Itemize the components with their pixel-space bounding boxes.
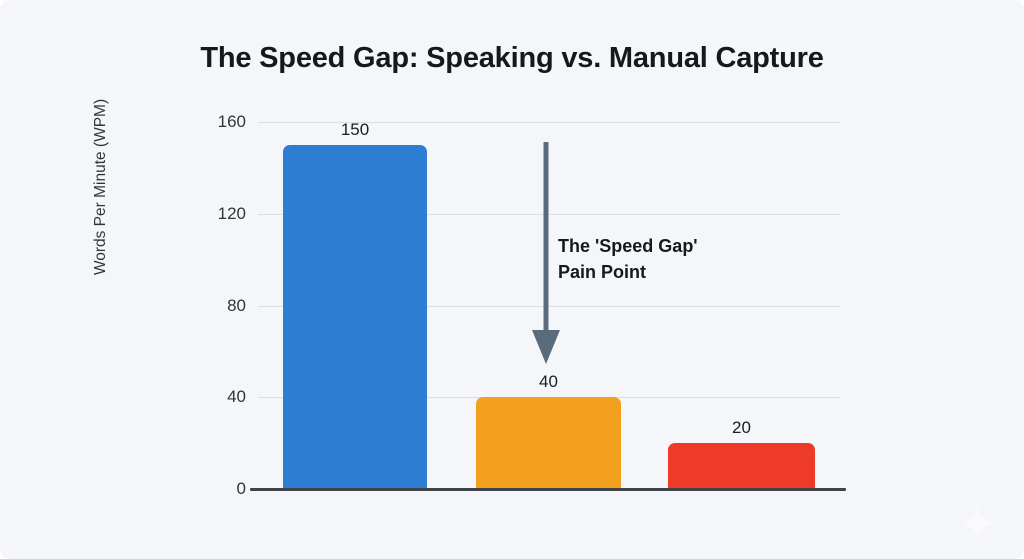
- speed-gap-annotation: The 'Speed Gap' Pain Point: [558, 233, 698, 285]
- y-tick-label-80: 80: [194, 296, 246, 316]
- y-tick-label-120: 120: [194, 204, 246, 224]
- y-tick-label-0: 0: [194, 479, 246, 499]
- speed-gap-annotation-line1: The 'Speed Gap': [558, 233, 698, 259]
- speed-gap-annotation-line2: Pain Point: [558, 259, 698, 285]
- y-tick-label-160: 160: [194, 112, 246, 132]
- bar-value-typing-ipad-screen: 40: [539, 372, 558, 392]
- bar-speaking-speed[interactable]: [283, 145, 427, 489]
- sparkle-icon: [955, 500, 1001, 546]
- chart-canvas: The Speed Gap: Speaking vs. Manual Captu…: [0, 0, 1024, 559]
- bar-value-speaking-speed: 150: [341, 120, 369, 140]
- bar-handwriting[interactable]: [668, 443, 815, 489]
- y-axis-tick-labels: 0 40 80 120 160: [188, 122, 246, 489]
- bar-typing-ipad-screen[interactable]: [476, 397, 621, 489]
- bar-value-handwriting: 20: [732, 418, 751, 438]
- y-tick-label-40: 40: [194, 387, 246, 407]
- chart-title: The Speed Gap: Speaking vs. Manual Captu…: [0, 42, 1024, 75]
- x-axis-line: [250, 488, 846, 491]
- y-axis-title: Words Per Minute (WPM): [92, 62, 110, 312]
